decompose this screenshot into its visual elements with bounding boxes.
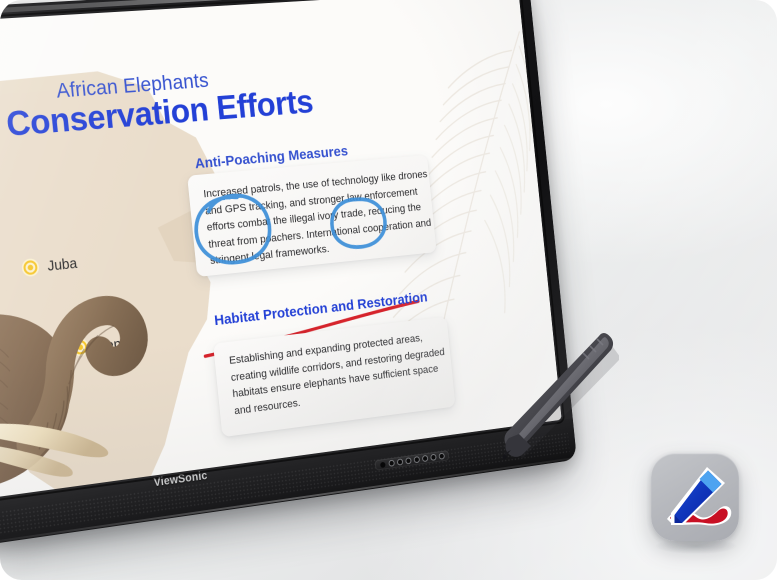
scene-background: Juba Namibia Kenya: [0, 0, 777, 580]
display-bezel: Juba Namibia Kenya: [0, 0, 577, 547]
port-icon[interactable]: [406, 458, 411, 463]
myviewboard-whiteboard-app-icon[interactable]: [651, 453, 739, 541]
port-icon[interactable]: [414, 457, 419, 462]
port-icon[interactable]: [431, 455, 436, 460]
port-icon[interactable]: [423, 456, 428, 461]
port-icon[interactable]: [389, 461, 394, 466]
ir-sensor-icon: [380, 461, 386, 467]
port-icon[interactable]: [398, 459, 403, 464]
port-icon[interactable]: [439, 454, 444, 459]
elephant-photo: [0, 255, 197, 499]
presentation-slide[interactable]: Juba Namibia Kenya: [0, 0, 562, 499]
interactive-display[interactable]: Juba Namibia Kenya: [0, 0, 577, 547]
active-stylus-pen[interactable]: [489, 330, 619, 460]
display-screen[interactable]: Juba Namibia Kenya: [0, 0, 562, 499]
whiteboard-pen-icon: [651, 453, 739, 541]
